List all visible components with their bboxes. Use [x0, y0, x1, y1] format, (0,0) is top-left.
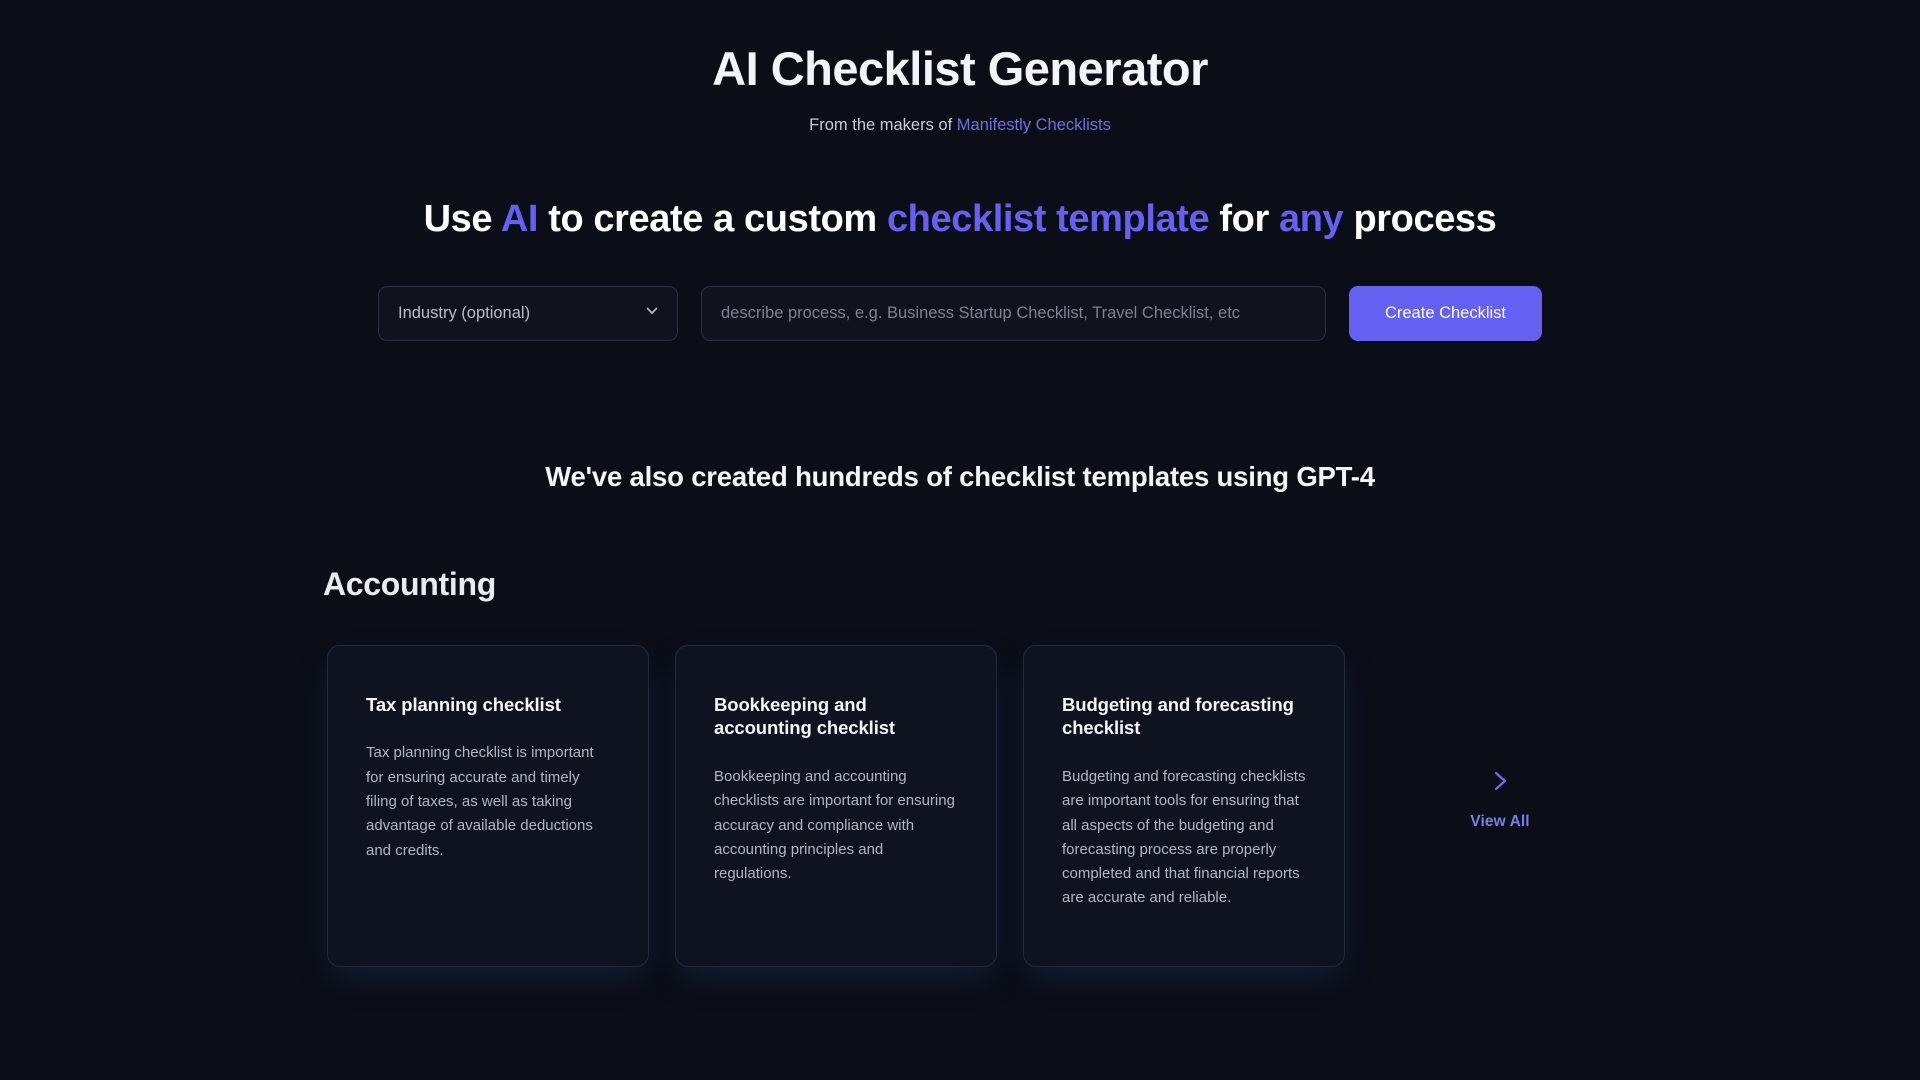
template-card-title: Tax planning checklist: [366, 693, 610, 717]
hero-headline: Use AI to create a custom checklist temp…: [0, 197, 1920, 243]
headline-part-3: for: [1209, 198, 1279, 240]
view-all-label: View All: [1470, 813, 1529, 831]
chevron-right-icon: [1487, 768, 1513, 799]
view-all-link[interactable]: View All: [1445, 768, 1555, 831]
template-card[interactable]: Tax planning checklist Tax planning chec…: [327, 645, 649, 967]
headline-accent-any: any: [1279, 198, 1343, 240]
template-card[interactable]: Budgeting and forecasting checklist Budg…: [1023, 645, 1345, 967]
template-cards-row: Tax planning checklist Tax planning chec…: [323, 645, 1600, 967]
template-card-description: Tax planning checklist is important for …: [366, 741, 610, 862]
headline-part-1: Use: [424, 198, 501, 240]
makers-subtitle-prefix: From the makers of: [809, 116, 957, 134]
template-card-title: Budgeting and forecasting checklist: [1062, 693, 1306, 740]
templates-section-accounting: Accounting Tax planning checklist Tax pl…: [320, 566, 1600, 967]
process-description-input[interactable]: [701, 286, 1326, 341]
templates-heading: We've also created hundreds of checklist…: [0, 461, 1920, 493]
page-root: AI Checklist Generator From the makers o…: [0, 0, 1920, 1080]
makers-subtitle: From the makers of Manifestly Checklists: [0, 116, 1920, 135]
template-card-description: Budgeting and forecasting checklists are…: [1062, 765, 1306, 911]
create-checklist-button[interactable]: Create Checklist: [1349, 286, 1542, 341]
headline-accent-ai: AI: [501, 198, 538, 240]
page-title: AI Checklist Generator: [0, 42, 1920, 96]
manifestly-checklists-link[interactable]: Manifestly Checklists: [957, 116, 1111, 134]
industry-select-wrapper: Industry (optional): [378, 286, 678, 341]
industry-select-value: Industry (optional): [398, 304, 530, 323]
headline-part-4: process: [1343, 198, 1496, 240]
section-title-accounting: Accounting: [323, 566, 1600, 603]
template-card-description: Bookkeeping and accounting checklists ar…: [714, 765, 958, 886]
headline-part-2: to create a custom: [538, 198, 887, 240]
headline-accent-checklist-template: checklist template: [887, 198, 1209, 240]
template-card[interactable]: Bookkeeping and accounting checklist Boo…: [675, 645, 997, 967]
template-card-title: Bookkeeping and accounting checklist: [714, 693, 958, 740]
generator-form: Industry (optional) Create Checklist: [0, 286, 1920, 341]
industry-select[interactable]: Industry (optional): [378, 286, 678, 341]
